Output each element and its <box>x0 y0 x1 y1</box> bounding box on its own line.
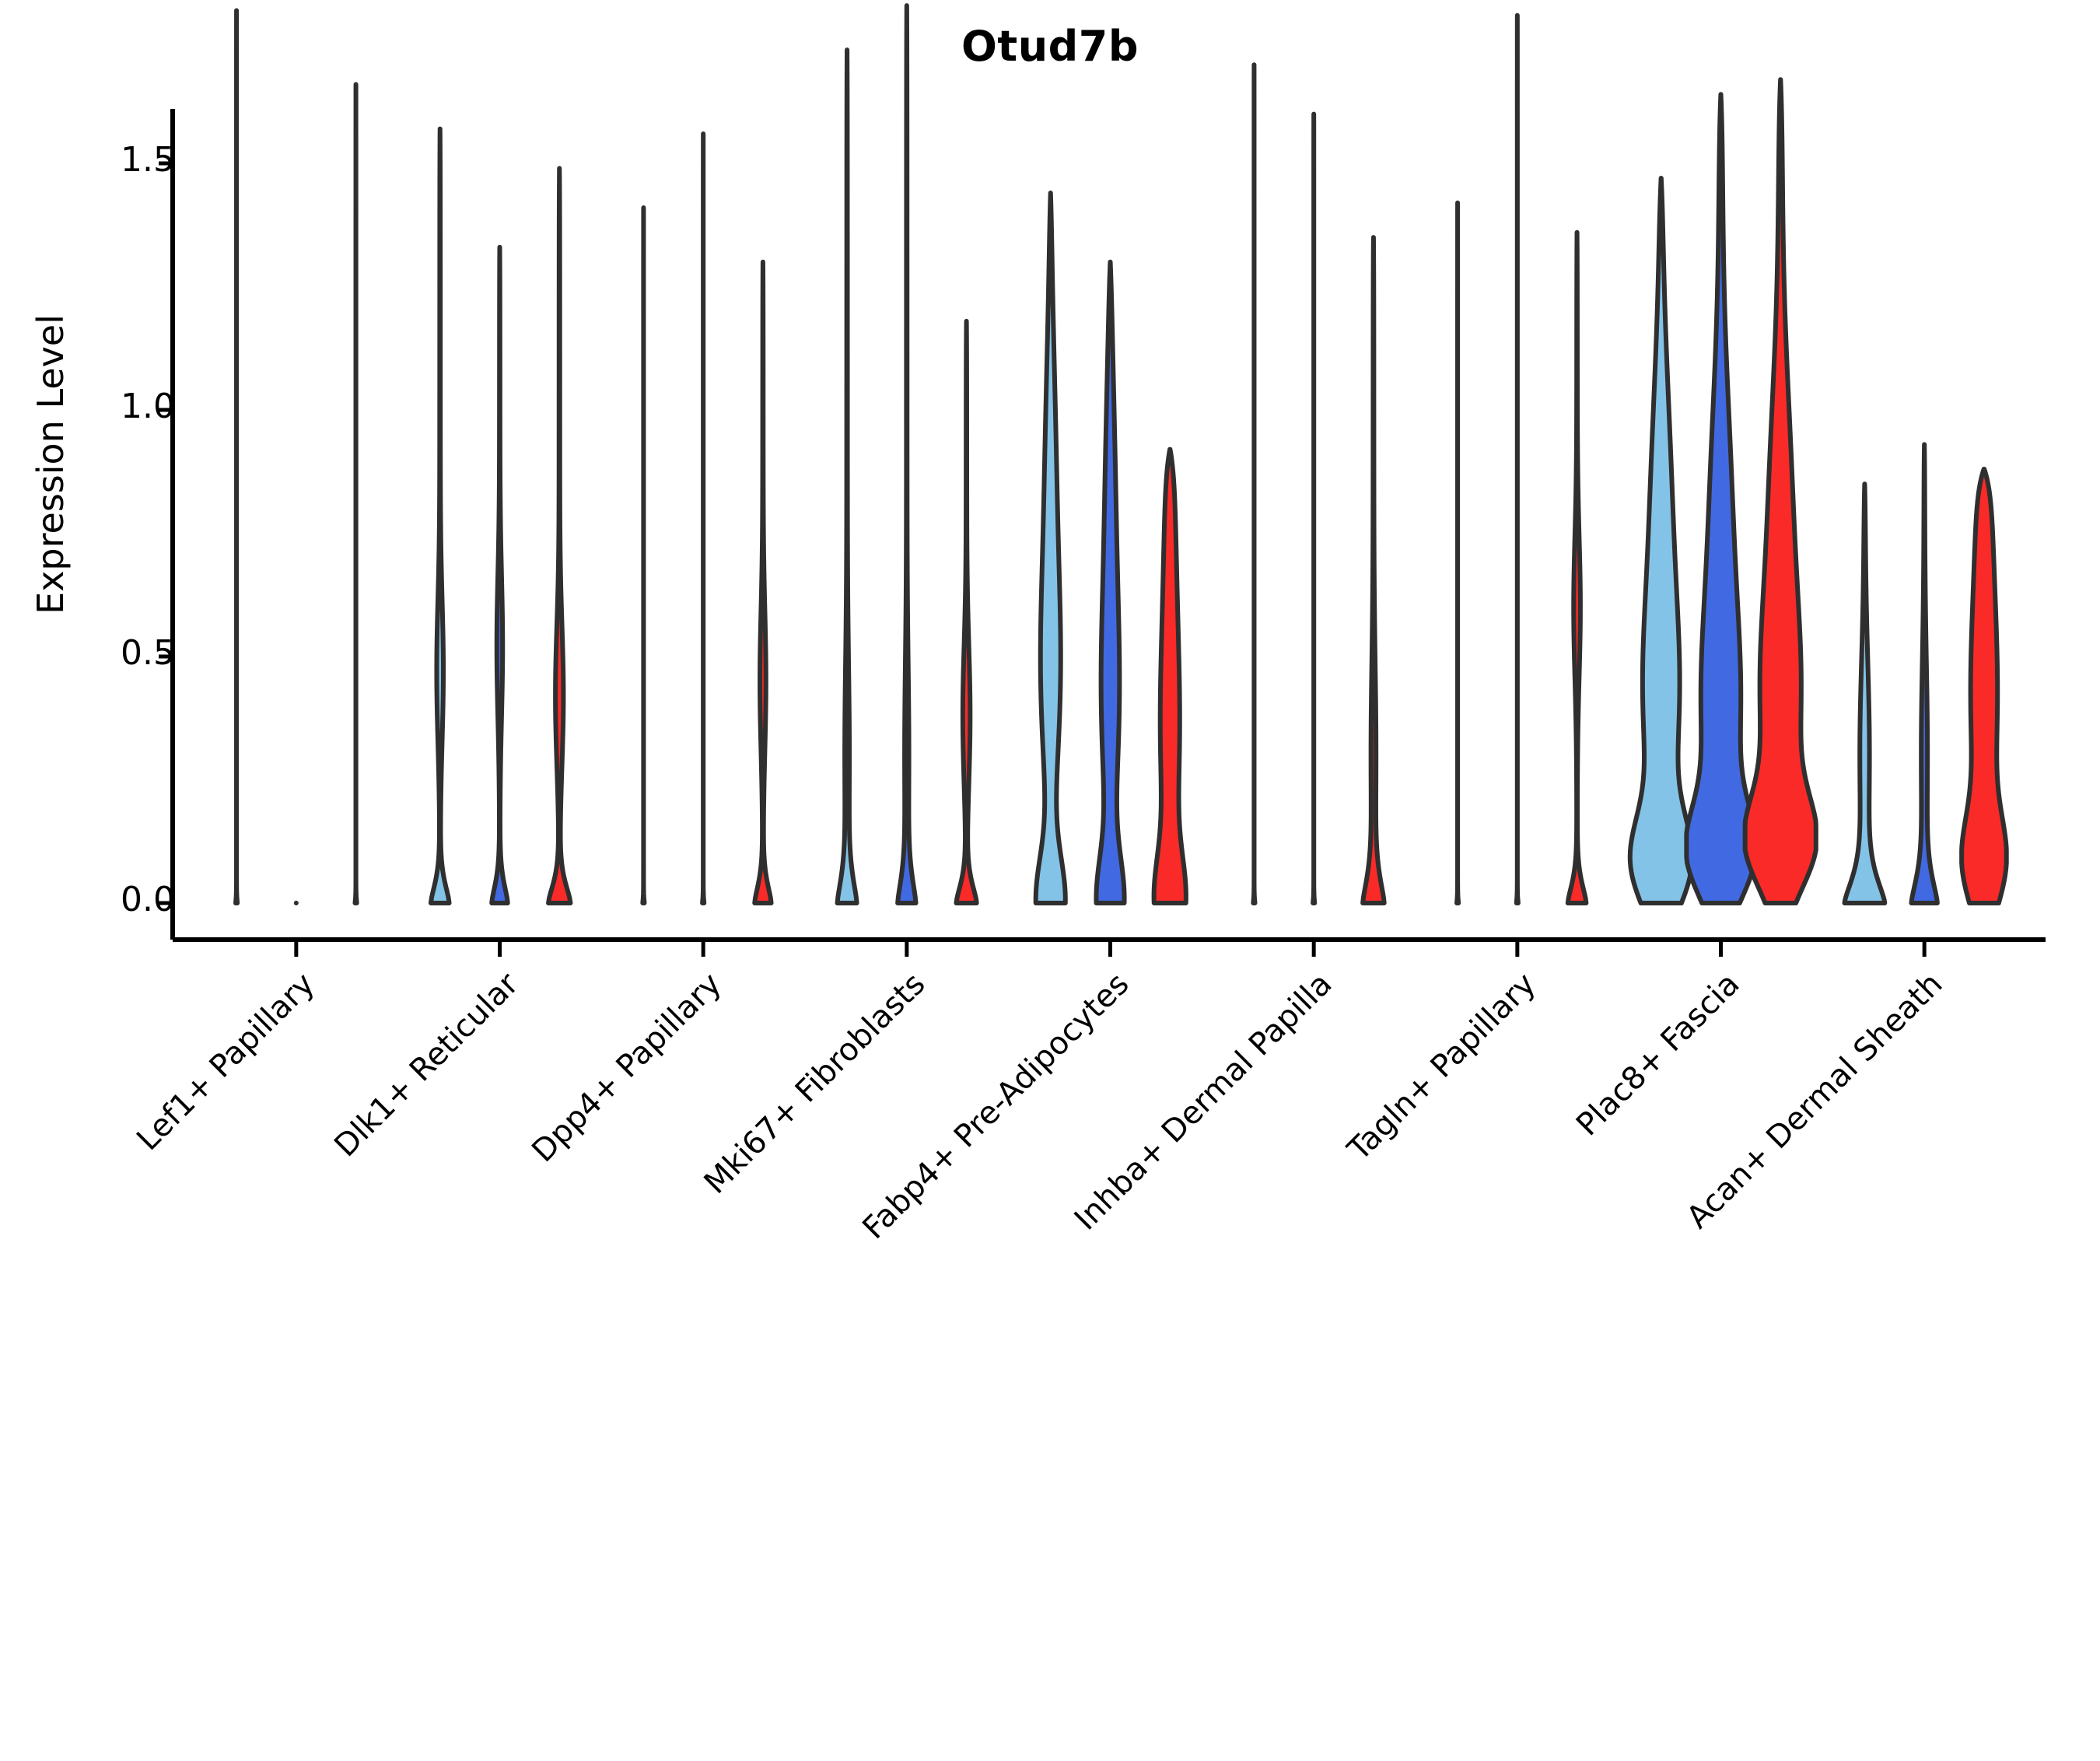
violin-9-group-1[interactable] <box>1845 484 1885 903</box>
violin-7-group-2[interactable] <box>1517 16 1518 903</box>
y-tick-label: 0.5 <box>19 633 175 673</box>
violin-8-group-1[interactable] <box>1630 178 1692 903</box>
violin-7-group-3[interactable] <box>1568 233 1587 903</box>
violin-1-group-1[interactable] <box>236 10 237 903</box>
violin-3-group-1[interactable] <box>642 208 644 903</box>
violin-2-group-2[interactable] <box>492 247 507 903</box>
violin-6-group-3[interactable] <box>1363 237 1384 903</box>
violin-4-group-2[interactable] <box>898 5 915 903</box>
violin-5-group-3[interactable] <box>1154 450 1186 903</box>
y-tick-label: 0.0 <box>19 880 175 919</box>
violin-3-group-2[interactable] <box>702 134 704 903</box>
violin-6-group-2[interactable] <box>1313 114 1314 903</box>
violin-2-group-3[interactable] <box>548 168 570 903</box>
violin-plot-figure: Otud7b Expression Level 0.00.51.01.5 Lef… <box>0 0 2100 1400</box>
violin-7-group-1[interactable] <box>1457 203 1458 903</box>
violin-8-group-3[interactable] <box>1745 79 1816 903</box>
violin-6-group-1[interactable] <box>1253 65 1255 903</box>
violin-5-group-2[interactable] <box>1096 262 1124 903</box>
violin-3-group-3[interactable] <box>754 262 771 903</box>
violin-4-group-3[interactable] <box>957 321 977 903</box>
y-tick-label: 1.0 <box>19 387 175 426</box>
violin-shapes <box>236 5 2007 903</box>
violin-9-group-2[interactable] <box>1911 444 1937 903</box>
y-tick-label: 1.5 <box>19 140 175 180</box>
violin-2-group-1[interactable] <box>431 129 450 903</box>
violin-4-group-1[interactable] <box>838 50 857 903</box>
violin-1-group-3[interactable] <box>355 85 357 903</box>
violin-8-group-2[interactable] <box>1686 94 1755 903</box>
violin-9-group-3[interactable] <box>1962 469 2007 903</box>
violin-5-group-1[interactable] <box>1036 193 1066 903</box>
x-tick-marks <box>296 940 1924 957</box>
